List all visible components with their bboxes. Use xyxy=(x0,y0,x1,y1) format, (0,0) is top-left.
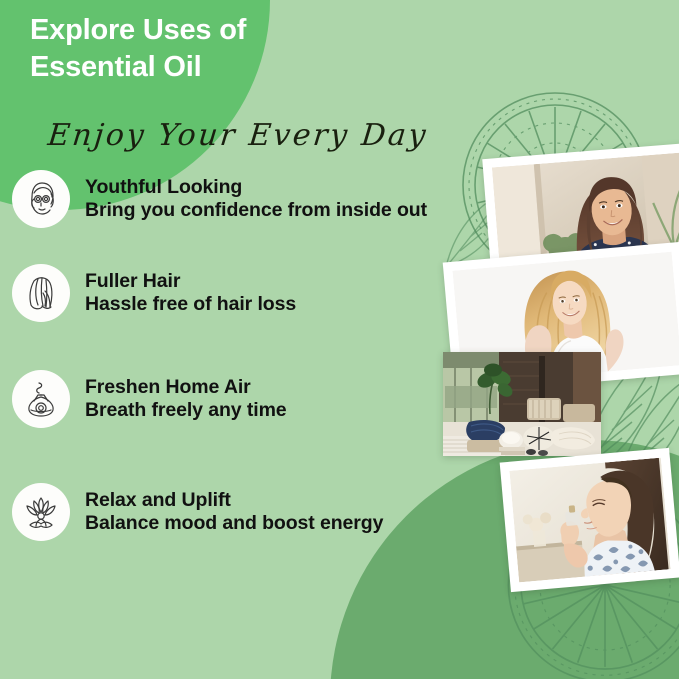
photo-3-image xyxy=(443,352,601,456)
feature-item-fuller-hair: Fuller Hair Hassle free of hair loss xyxy=(12,264,296,322)
photo-3-frame xyxy=(443,352,601,456)
aroma-diffuser-icon xyxy=(12,370,70,428)
feature-item-youthful-looking: Youthful Looking Bring you confidence fr… xyxy=(12,170,427,228)
photo-living-room-interior xyxy=(443,352,601,456)
feature-2-title: Fuller Hair xyxy=(85,270,296,293)
feature-2-subtitle: Hassle free of hair loss xyxy=(85,293,296,316)
photo-4-image xyxy=(509,458,670,583)
feature-item-relax-and-uplift: Relax and Uplift Balance mood and boost … xyxy=(12,483,383,541)
feature-item-freshen-home-air: Freshen Home Air Breath freely any time xyxy=(12,370,287,428)
feature-1-title: Youthful Looking xyxy=(85,176,427,199)
title-line-2: Essential Oil xyxy=(30,49,360,86)
feature-3-text: Freshen Home Air Breath freely any time xyxy=(85,376,287,422)
long-hair-icon xyxy=(12,264,70,322)
feature-1-subtitle: Bring you confidence from inside out xyxy=(85,199,427,222)
feature-3-subtitle: Breath freely any time xyxy=(85,399,287,422)
lotus-meditation-icon xyxy=(12,483,70,541)
tagline: Enjoy Your Every Day xyxy=(46,118,430,153)
photo-4-frame xyxy=(509,458,670,583)
photo-woman-applying-perfume xyxy=(500,448,679,592)
feature-4-title: Relax and Uplift xyxy=(85,489,383,512)
feature-2-text: Fuller Hair Hassle free of hair loss xyxy=(85,270,296,316)
feature-1-text: Youthful Looking Bring you confidence fr… xyxy=(85,176,427,222)
feature-4-subtitle: Balance mood and boost energy xyxy=(85,512,383,535)
page-title: Explore Uses of Essential Oil xyxy=(30,12,360,86)
poster-canvas: Explore Uses of Essential Oil Enjoy Your… xyxy=(0,0,679,679)
title-line-1: Explore Uses of xyxy=(30,12,360,49)
feature-4-text: Relax and Uplift Balance mood and boost … xyxy=(85,489,383,535)
face-mask-icon xyxy=(12,170,70,228)
feature-3-title: Freshen Home Air xyxy=(85,376,287,399)
